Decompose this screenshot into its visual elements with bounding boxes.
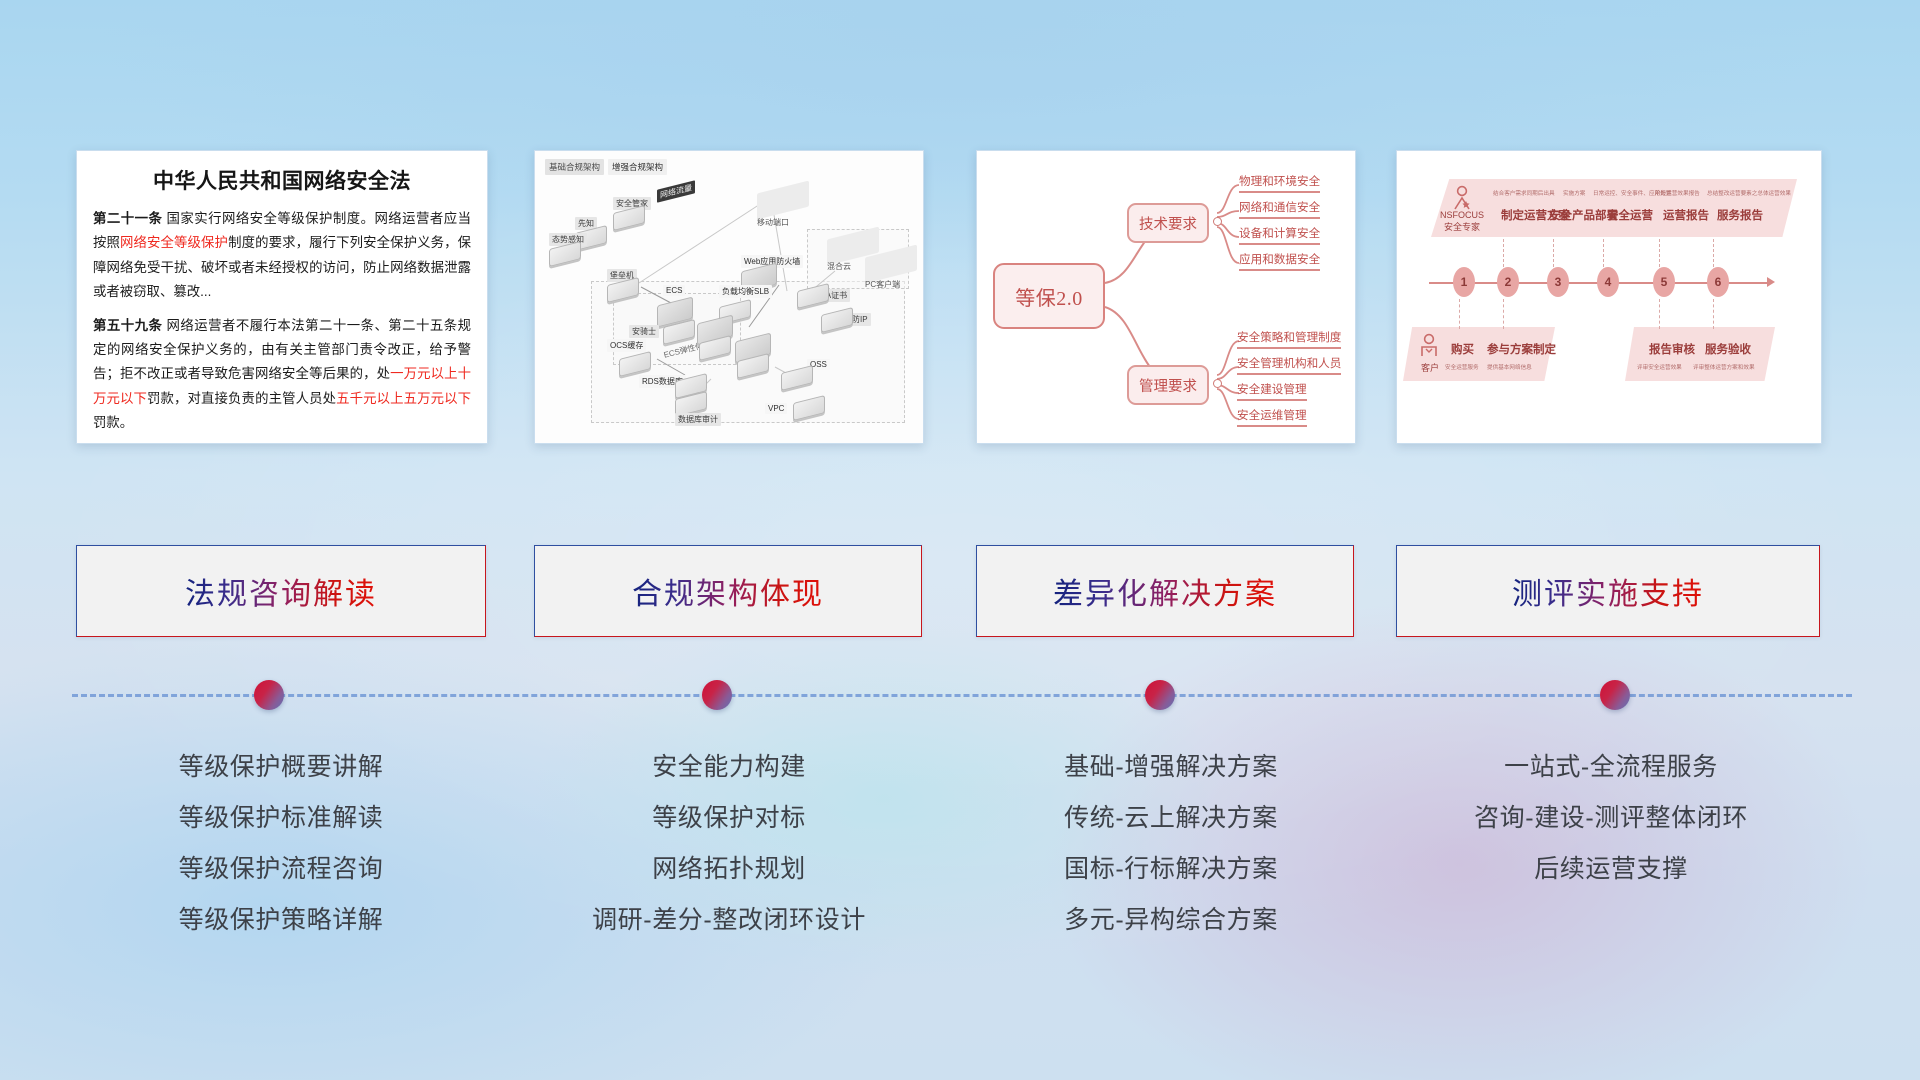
timeline-row: [0, 675, 1920, 715]
law-body: 中华人民共和国网络安全法 第二十一条 国家实行网络安全等级保护制度。网络运营者应…: [77, 151, 487, 443]
operations-vendor-role: 安全专家: [1433, 221, 1491, 233]
architecture-diagram: 基础合规架构 增强合规架构 网络流量: [535, 151, 923, 443]
slide-canvas: 中华人民共和国网络安全法 第二十一条 国家实行网络安全等级保护制度。网络运营者应…: [0, 0, 1920, 1080]
heading-box-compliance-architecture[interactable]: 合规架构体现: [534, 545, 922, 637]
operations-axis-arrow-icon: [1767, 277, 1775, 287]
list-item: 调研-差分-整改闭环设计: [514, 895, 944, 946]
architecture-node-network-traffic-label: 网络流量: [657, 180, 695, 202]
card-dengbao-mindmap[interactable]: 等保2.0 技术要求 物理和环境安全 网络和通信安全 设备和计算安全 应用和数据…: [976, 150, 1356, 444]
architecture-node-oss: OSS: [781, 369, 813, 387]
architecture-node-mobile-client-label: 移动端口: [757, 217, 789, 228]
architecture-node-vpc-label: VPC: [765, 403, 787, 414]
mindmap-root-node: 等保2.0: [993, 263, 1105, 329]
architecture-node-vpc: VPC: [765, 399, 825, 417]
operations-tick-5-up: [1659, 239, 1661, 267]
mindmap-leaf-network-comm: 网络和通信安全: [1239, 199, 1320, 219]
list-item: 国标-行标解决方案: [956, 844, 1386, 895]
architecture-node-database-audit: 数据库审计: [675, 395, 707, 413]
law-article-59: 第五十九条 网络运营者不履行本法第二十一条、第二十五条规定的网络安全保护义务的，…: [93, 314, 471, 436]
timeline-dot-3[interactable]: [1145, 680, 1175, 710]
operations-step-node-5[interactable]: 5: [1653, 267, 1675, 297]
architecture-node-slb-label: 负载均衡SLB: [719, 285, 772, 298]
security-expert-icon: [1449, 185, 1475, 211]
operations-customer-step-4-title: 服务验收: [1705, 341, 1751, 357]
heading-box-differentiated-solution[interactable]: 差异化解决方案: [976, 545, 1354, 637]
architecture-node-hybrid-cloud-label: 混合云: [827, 261, 851, 272]
list-item: 后续运营支撑: [1396, 844, 1826, 895]
heading-label-compliance-architecture: 合规架构体现: [632, 569, 824, 613]
card-operations-timeline[interactable]: NSFOCUS 安全专家 结合客户需求同期后出具 制定运营方案 实施方案 安全产…: [1396, 150, 1822, 444]
mindmap-collapse-dot-technical[interactable]: [1213, 217, 1222, 226]
operations-vendor-step-2-subtitle: 实施方案: [1563, 189, 1585, 197]
mindmap-leaf-physical-env: 物理和环境安全: [1239, 173, 1320, 193]
operations-diagram: NSFOCUS 安全专家 结合客户需求同期后出具 制定运营方案 实施方案 安全产…: [1397, 151, 1821, 443]
operations-customer-step-4-subtitle: 评审整体运营方案和效果: [1693, 363, 1755, 371]
mindmap-branch-management: 管理要求: [1127, 365, 1209, 405]
mindmap-leaf-device-compute: 设备和计算安全: [1239, 225, 1320, 245]
operations-customer-step-2-subtitle: 提供基本网络信息: [1487, 363, 1532, 371]
operations-customer-step-1-title: 购买: [1451, 341, 1474, 357]
timeline-dot-1[interactable]: [254, 680, 284, 710]
timeline-dot-4[interactable]: [1600, 680, 1630, 710]
architecture-node-mobile-client-plate: [757, 181, 809, 220]
mindmap-leaf-app-data: 应用和数据安全: [1239, 251, 1320, 271]
law-article-21: 第二十一条 国家实行网络安全等级保护制度。网络运营者应当按照网络安全等级保护制度…: [93, 207, 471, 305]
operations-vendor-step-5-subtitle: 总结整改运营要素之总体运营效果: [1707, 189, 1791, 197]
timeline-dot-2[interactable]: [702, 680, 732, 710]
operations-step-node-4[interactable]: 4: [1597, 267, 1619, 297]
operations-step-node-1[interactable]: 1: [1453, 267, 1475, 297]
operations-vendor-step-3-title: 安全运营: [1607, 207, 1653, 223]
heading-label-differentiated-solution: 差异化解决方案: [1053, 569, 1277, 613]
operations-customer-step-2-title: 参与方案制定: [1487, 341, 1556, 357]
operations-customer-role: 客户: [1415, 361, 1445, 374]
operations-customer-step-3-subtitle: 评审安全运营效果: [1637, 363, 1682, 371]
architecture-node-ocs-cache: OCS缓存: [607, 351, 651, 373]
list-item: 传统-云上解决方案: [956, 793, 1386, 844]
thumbnail-card-row: 中华人民共和国网络安全法 第二十一条 国家实行网络安全等级保护制度。网络运营者应…: [0, 150, 1920, 442]
service-list-regulation-consulting: 等级保护概要讲解 等级保护标准解读 等级保护流程咨询 等级保护策略详解: [76, 742, 486, 946]
law-article-21-seg-1: 网络安全等级保护: [120, 235, 228, 250]
list-item: 等级保护概要讲解: [76, 742, 486, 793]
architecture-node-ecs: ECS: [657, 297, 693, 323]
architecture-tab-basic[interactable]: 基础合规架构: [545, 159, 604, 175]
operations-vendor-step-5-title: 服务报告: [1717, 207, 1763, 223]
law-title: 中华人民共和国网络安全法: [93, 165, 471, 195]
architecture-node-ocs-cache-label: OCS缓存: [607, 339, 646, 352]
architecture-tab-strip: 基础合规架构 增强合规架构: [545, 159, 667, 175]
mindmap-leaf-org-personnel: 安全管理机构和人员: [1237, 355, 1341, 375]
mindmap-leaf-operations-mgmt: 安全运维管理: [1237, 407, 1307, 427]
operations-step-node-3[interactable]: 3: [1547, 267, 1569, 297]
architecture-node-bastion-host: 堡垒机: [607, 281, 639, 299]
operations-vendor-actor: NSFOCUS 安全专家: [1433, 209, 1491, 233]
service-list-row: 等级保护概要讲解 等级保护标准解读 等级保护流程咨询 等级保护策略详解 安全能力…: [0, 742, 1920, 962]
heading-box-row: 法规咨询解读 合规架构体现 差异化解决方案 测评实施支持: [0, 545, 1920, 645]
architecture-node-situational-awareness: 态势感知: [549, 245, 581, 263]
law-article-59-seg-3: 五千元以上五万元以下: [336, 391, 471, 406]
heading-box-regulation-consulting[interactable]: 法规咨询解读: [76, 545, 486, 637]
timeline-dashed-line: [72, 694, 1852, 697]
law-article-59-label: 第五十九条: [93, 318, 162, 333]
customer-icon: [1417, 333, 1441, 359]
architecture-node-anti-ddos-ip: 高防IP: [821, 311, 853, 329]
operations-tick-6-down: [1713, 299, 1715, 329]
law-article-59-seg-4: 罚款。: [93, 415, 133, 430]
operations-band-customer-right: [1625, 327, 1775, 381]
list-item: 基础-增强解决方案: [956, 742, 1386, 793]
architecture-node-anqishi-label: 安骑士: [629, 325, 659, 338]
architecture-node-ecs-instance-b: [699, 339, 731, 357]
mindmap-collapse-dot-management[interactable]: [1213, 379, 1222, 388]
operations-tick-2-up: [1503, 239, 1505, 267]
operations-tick-4-up: [1603, 239, 1605, 267]
operations-tick-2-down: [1503, 299, 1505, 329]
heading-label-assessment-support: 测评实施支持: [1512, 569, 1704, 613]
architecture-node-ecs-label: ECS: [663, 285, 685, 296]
operations-tick-5-down: [1659, 299, 1661, 329]
operations-tick-3-up: [1553, 239, 1555, 267]
architecture-node-security-butler: 安全管家: [613, 209, 645, 227]
list-item: 多元-异构综合方案: [956, 895, 1386, 946]
service-list-assessment-support: 一站式-全流程服务 咨询-建设-测评整体闭环 后续运营支撑: [1396, 742, 1826, 895]
heading-box-assessment-support[interactable]: 测评实施支持: [1396, 545, 1820, 637]
operations-step-node-2[interactable]: 2: [1497, 267, 1519, 297]
list-item: 等级保护策略详解: [76, 895, 486, 946]
mindmap-leaf-construction-mgmt: 安全建设管理: [1237, 381, 1307, 401]
law-article-21-label: 第二十一条: [93, 211, 162, 226]
list-item: 安全能力构建: [514, 742, 944, 793]
list-item: 等级保护流程咨询: [76, 844, 486, 895]
architecture-node-database-audit-label: 数据库审计: [675, 413, 721, 426]
operations-step-node-6[interactable]: 6: [1707, 267, 1729, 297]
operations-customer-step-1-subtitle: 安全运营服务: [1445, 363, 1479, 371]
heading-label-regulation-consulting: 法规咨询解读: [185, 569, 377, 613]
operations-vendor-name: NSFOCUS: [1433, 209, 1491, 221]
architecture-node-ecs-instance-d: [737, 357, 769, 375]
mindmap-diagram: 等保2.0 技术要求 物理和环境安全 网络和通信安全 设备和计算安全 应用和数据…: [977, 151, 1355, 443]
operations-tick-6-up: [1713, 239, 1715, 267]
list-item: 网络拓扑规划: [514, 844, 944, 895]
service-list-differentiated-solution: 基础-增强解决方案 传统-云上解决方案 国标-行标解决方案 多元-异构综合方案: [956, 742, 1386, 946]
card-cybersecurity-law[interactable]: 中华人民共和国网络安全法 第二十一条 国家实行网络安全等级保护制度。网络运营者应…: [76, 150, 488, 444]
mindmap-branch-technical: 技术要求: [1127, 203, 1209, 243]
service-list-compliance-architecture: 安全能力构建 等级保护对标 网络拓扑规划 调研-差分-整改闭环设计: [514, 742, 944, 946]
operations-vendor-step-1-subtitle: 结合客户需求同期后出具: [1493, 189, 1555, 197]
list-item: 一站式-全流程服务: [1396, 742, 1826, 793]
list-item: 咨询-建设-测评整体闭环: [1396, 793, 1826, 844]
operations-vendor-step-4-subtitle: 阶段运营效果报告: [1655, 189, 1700, 197]
architecture-node-ca-certificate: CA证书: [797, 287, 829, 305]
architecture-node-rds-database: RDS数据库: [639, 375, 707, 395]
operations-vendor-step-4-title: 运营报告: [1663, 207, 1709, 223]
card-compliance-architecture[interactable]: 基础合规架构 增强合规架构 网络流量: [534, 150, 924, 444]
operations-customer-step-3-title: 报告审核: [1649, 341, 1695, 357]
list-item: 等级保护对标: [514, 793, 944, 844]
operations-tick-1-down: [1459, 299, 1461, 329]
architecture-node-pc-client-label: PC客户端: [865, 279, 900, 290]
list-item: 等级保护标准解读: [76, 793, 486, 844]
mindmap-leaf-policy-system: 安全策略和管理制度: [1237, 329, 1341, 349]
law-article-59-seg-2: 罚款，对直接负责的主管人员处: [147, 391, 336, 406]
architecture-tab-enhanced[interactable]: 增强合规架构: [608, 159, 667, 175]
